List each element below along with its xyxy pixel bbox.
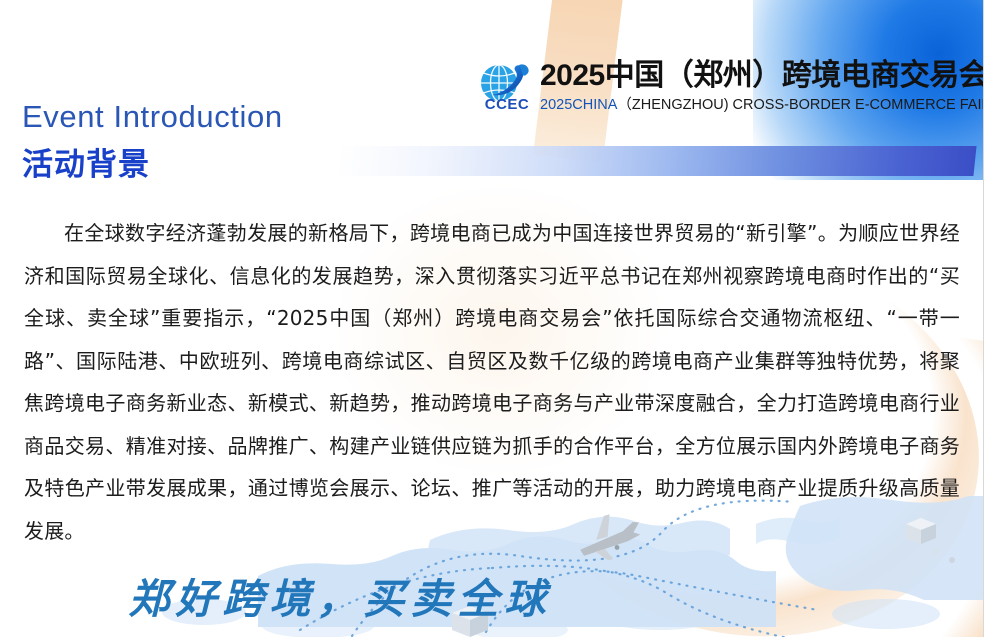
page-title-cn: 活动背景 — [22, 139, 150, 184]
logo-title-en-rest: （ZHENGZHOU) CROSS-BORDER E-COMMERCE FAIR — [617, 97, 984, 113]
body-paragraph: 在全球数字经济蓬勃发展的新格局下，跨境电商已成为中国连接世界贸易的“新引擎”。为… — [24, 212, 960, 552]
heading-gradient-rule — [335, 146, 976, 176]
logo-title-en: 2025CHINA（ZHENGZHOU) CROSS-BORDER E-COMM… — [540, 93, 984, 114]
slogan-text: 郑好跨境，买卖全球 — [0, 565, 680, 625]
page-title-en: Event Introduction — [22, 99, 283, 135]
logo-title-cn: 2025中国（郑州）跨境电商交易会 — [540, 50, 984, 94]
slide-canvas: CCEC 2025中国（郑州）跨境电商交易会 2025CHINA（ZHENGZH… — [0, 0, 984, 637]
logo-title-en-prefix: 2025CHINA — [540, 97, 617, 113]
logo-acronym: CCEC — [478, 96, 536, 113]
event-logo-lockup: CCEC 2025中国（郑州）跨境电商交易会 2025CHINA（ZHENGZH… — [478, 52, 948, 118]
